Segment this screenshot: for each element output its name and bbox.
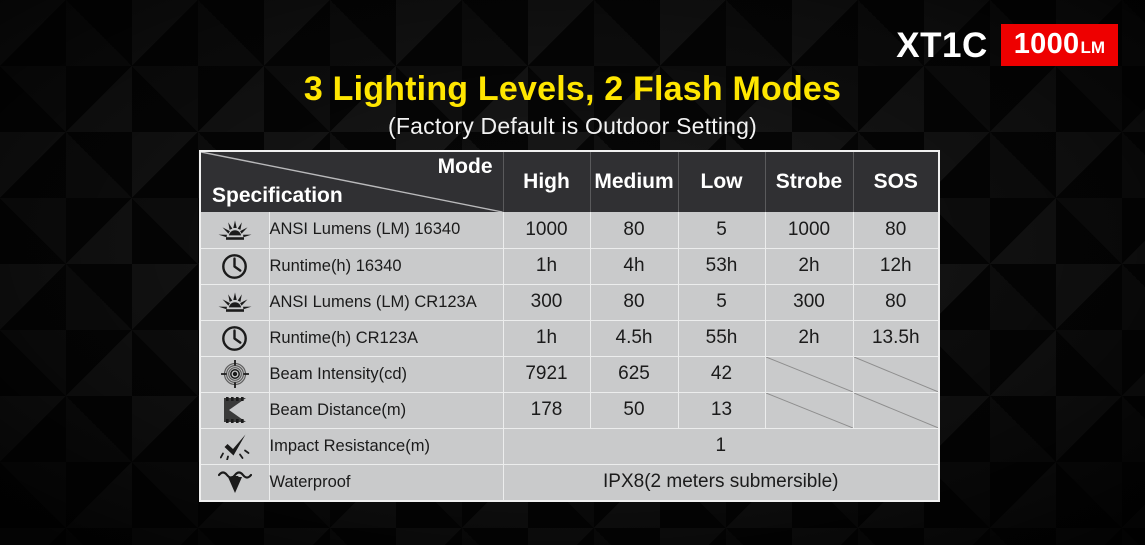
cell-high: 7921 [503, 356, 590, 392]
cell-sos: 80 [853, 212, 938, 248]
row-label: Beam Distance(m) [269, 392, 503, 428]
table-header-row: Mode Specification High Medium Low Strob… [201, 152, 938, 212]
column-header-low: Low [678, 152, 765, 212]
table-row: Runtime(h) 16340 1h 4h 53h 2h 12h [201, 248, 938, 284]
cell-strobe: 2h [765, 320, 853, 356]
cell-strobe: 1000 [765, 212, 853, 248]
diagonal-strike [854, 357, 939, 392]
page-subtitle: (Factory Default is Outdoor Setting) [0, 113, 1145, 140]
cell-sos-empty [853, 392, 938, 428]
table-row: Beam Intensity(cd) 7921 625 42 [201, 356, 938, 392]
row-label: Beam Intensity(cd) [269, 356, 503, 392]
row-label: ANSI Lumens (LM) 16340 [269, 212, 503, 248]
row-label: Impact Resistance(m) [269, 428, 503, 464]
sunburst-icon [201, 284, 269, 320]
cell-low: 55h [678, 320, 765, 356]
cell-medium: 4.5h [590, 320, 678, 356]
cell-sos: 12h [853, 248, 938, 284]
cell-low: 13 [678, 392, 765, 428]
model-name: XT1C [896, 28, 987, 63]
diagonal-strike [766, 357, 853, 392]
cell-medium: 625 [590, 356, 678, 392]
column-header-strobe: Strobe [765, 152, 853, 212]
cell-strobe-empty [765, 392, 853, 428]
page-title: 3 Lighting Levels, 2 Flash Modes [0, 70, 1145, 109]
row-label: Runtime(h) 16340 [269, 248, 503, 284]
cell-low: 53h [678, 248, 765, 284]
cell-sos: 80 [853, 284, 938, 320]
row-label: Waterproof [269, 464, 503, 500]
clock-icon [201, 320, 269, 356]
cell-strobe: 300 [765, 284, 853, 320]
cell-sos: 13.5h [853, 320, 938, 356]
column-header-medium: Medium [590, 152, 678, 212]
table-row: Waterproof IPX8(2 meters submersible) [201, 464, 938, 500]
header-corner-cell: Mode Specification [201, 152, 503, 212]
cell-medium: 80 [590, 284, 678, 320]
cell-sos-empty [853, 356, 938, 392]
table-row: Impact Resistance(m) 1 [201, 428, 938, 464]
cell-low: 42 [678, 356, 765, 392]
row-label: ANSI Lumens (LM) CR123A [269, 284, 503, 320]
row-label: Runtime(h) CR123A [269, 320, 503, 356]
cell-medium: 50 [590, 392, 678, 428]
cell-high: 1h [503, 248, 590, 284]
cell-medium: 80 [590, 212, 678, 248]
spec-sheet: XT1C 1000 LM 3 Lighting Levels, 2 Flash … [0, 0, 1145, 545]
cell-high: 300 [503, 284, 590, 320]
table-row: ANSI Lumens (LM) 16340 1000 80 5 1000 80 [201, 212, 938, 248]
cell-high: 1000 [503, 212, 590, 248]
model-badge-group: XT1C 1000 LM [896, 24, 1118, 66]
cell-impact-value: 1 [503, 428, 938, 464]
lumens-unit: LM [1080, 39, 1105, 56]
table-row: Runtime(h) CR123A 1h 4.5h 55h 2h 13.5h [201, 320, 938, 356]
table-row: ANSI Lumens (LM) CR123A 300 80 5 300 80 [201, 284, 938, 320]
beam-intensity-icon [201, 356, 269, 392]
clock-icon [201, 248, 269, 284]
lumens-badge: 1000 LM [1001, 24, 1118, 66]
cell-strobe: 2h [765, 248, 853, 284]
diagonal-strike [766, 393, 853, 428]
sunburst-icon [201, 212, 269, 248]
column-header-sos: SOS [853, 152, 938, 212]
waterproof-icon [201, 464, 269, 500]
cell-strobe-empty [765, 356, 853, 392]
table-row: Beam Distance(m) 178 50 13 [201, 392, 938, 428]
cell-low: 5 [678, 284, 765, 320]
specification-table: Mode Specification High Medium Low Strob… [201, 152, 938, 500]
cell-medium: 4h [590, 248, 678, 284]
column-header-high: High [503, 152, 590, 212]
header-specification-label: Specification [212, 184, 343, 208]
cell-high: 1h [503, 320, 590, 356]
beam-distance-icon [201, 392, 269, 428]
header-mode-label: Mode [438, 155, 493, 179]
impact-resistance-icon [201, 428, 269, 464]
cell-waterproof-value: IPX8(2 meters submersible) [503, 464, 938, 500]
lumens-value: 1000 [1014, 30, 1080, 59]
diagonal-strike [854, 393, 939, 428]
cell-high: 178 [503, 392, 590, 428]
cell-low: 5 [678, 212, 765, 248]
